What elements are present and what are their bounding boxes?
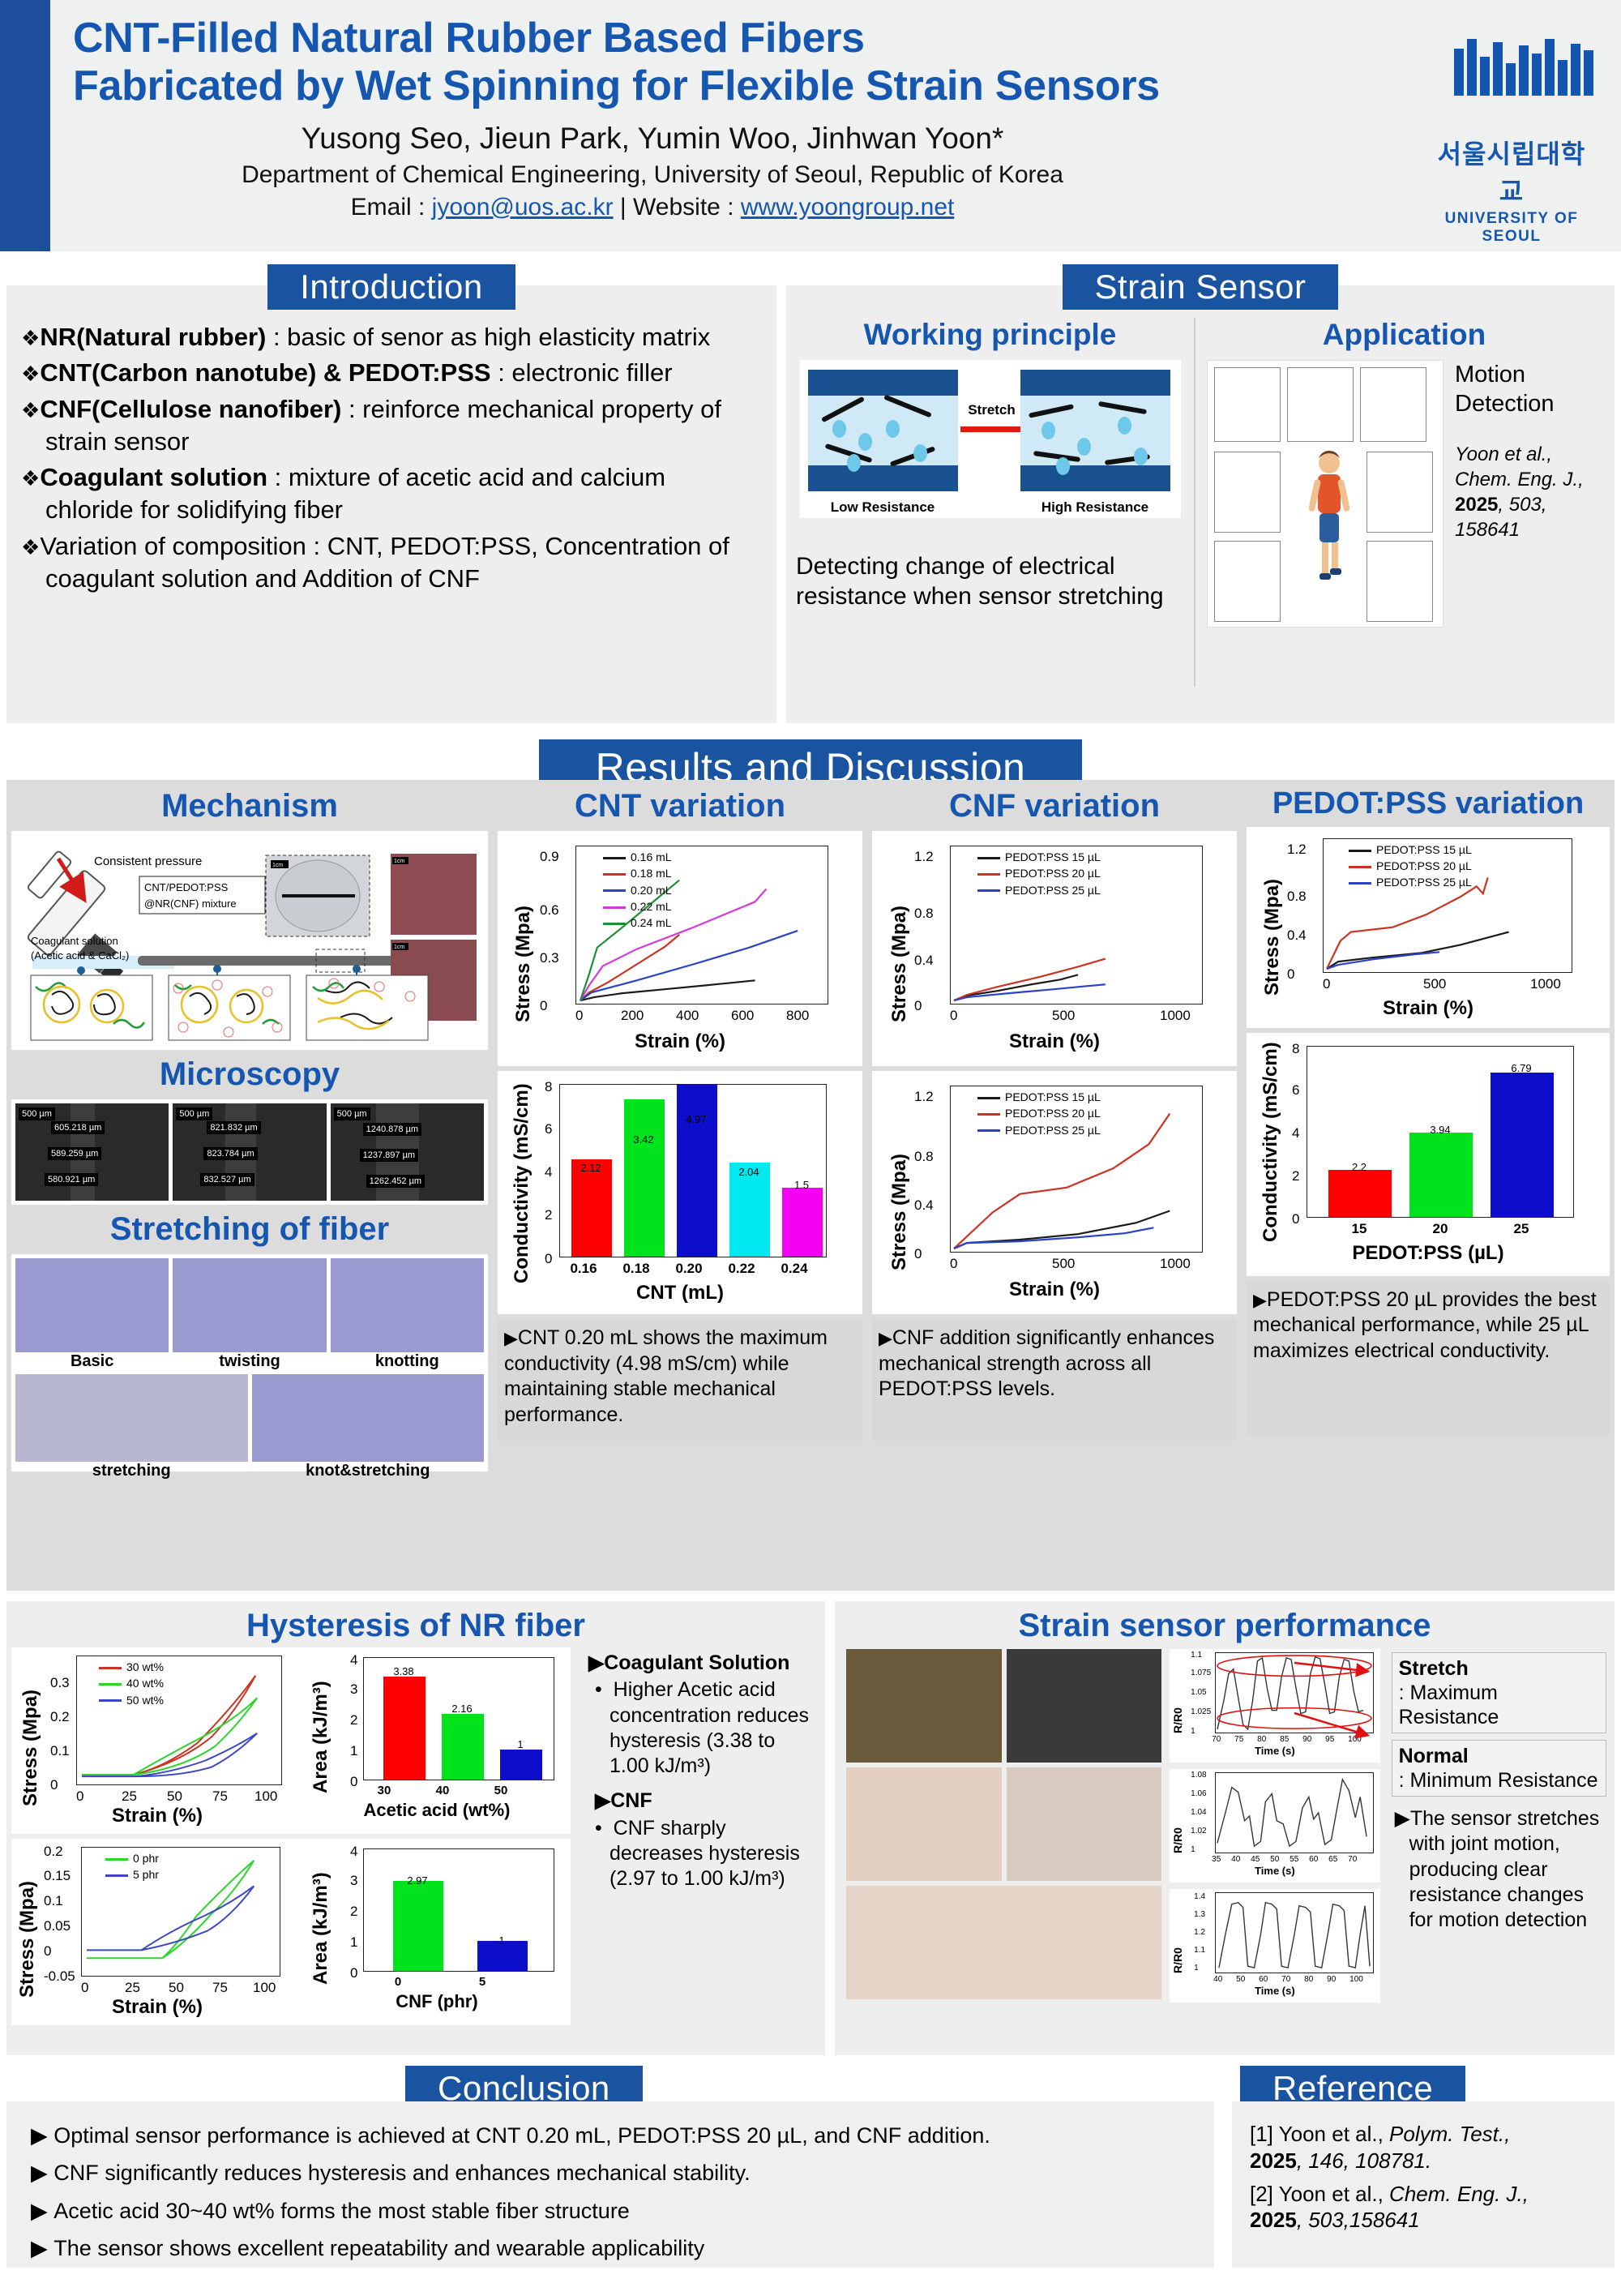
bar xyxy=(1491,1073,1554,1217)
y-tick: 1.2 xyxy=(914,849,934,865)
conclusion-panel: ▶ Optimal sensor performance is achieved… xyxy=(6,2101,1214,2268)
y-tick: 1 xyxy=(350,1743,357,1759)
area-cnf-ylabel: Area (kJ/m³) xyxy=(310,1872,332,1985)
citation-author: Yoon et al., xyxy=(1455,442,1602,467)
photo-finger-sensor xyxy=(846,1649,1002,1763)
y-tick: 0.1 xyxy=(44,1893,63,1909)
x-tick: 50 xyxy=(167,1788,182,1805)
y-tick: 6 xyxy=(545,1121,552,1137)
photo-elbow xyxy=(846,1886,1161,1999)
x-tick: 25 xyxy=(125,1980,140,1996)
legend-entry: 0.22 mL xyxy=(631,900,672,913)
y-tick: 0.4 xyxy=(1287,927,1307,944)
conclusion-item: CNF significantly reduces hysteresis and… xyxy=(53,2161,750,2185)
x-category: 0.22 xyxy=(717,1261,766,1277)
x-tick: 65 xyxy=(1328,1855,1337,1864)
strain-sensor-title-wrap: Strain Sensor xyxy=(786,264,1615,310)
hys-cnf-xlabel: Strain (%) xyxy=(11,1996,303,2019)
y-tick: 3 xyxy=(350,1681,357,1698)
high-resistance-diagram: High Resistance xyxy=(1020,370,1170,491)
x-tick: 40 xyxy=(1231,1855,1240,1864)
mini-plot-f xyxy=(1214,541,1281,622)
list-item: ▶ Optimal sensor performance is achieved… xyxy=(31,2124,1190,2147)
working-principle-figure: Low Resistance Stretch xyxy=(800,360,1181,518)
mini-plot-a xyxy=(1214,367,1281,442)
website-link[interactable]: www.yoongroup.net xyxy=(741,194,955,221)
low-resistance-diagram: Low Resistance xyxy=(808,370,958,491)
y-tick: 1.2 xyxy=(1287,842,1307,858)
reference-panel: [1] Yoon et al., Polym. Test.,2025, 146,… xyxy=(1232,2101,1615,2268)
performance-note: ▶The sensor stretches with joint motion,… xyxy=(1392,1806,1606,1933)
y-tick: 0 xyxy=(50,1777,58,1793)
y-tick: 0.3 xyxy=(540,950,559,966)
intro-item-rest: : basic of senor as high elasticity matr… xyxy=(266,323,710,351)
svg-text:1cm: 1cm xyxy=(394,945,404,950)
pedot-note-text: PEDOT:PSS 20 µL provides the best mechan… xyxy=(1253,1288,1597,1362)
x-tick: 1000 xyxy=(1530,976,1561,992)
y-tick: 0 xyxy=(350,1965,357,1981)
y-tick: 1.04 xyxy=(1191,1808,1206,1817)
application-citation: Yoon et al., Chem. Eng. J., 2025, 503, 1… xyxy=(1455,442,1602,543)
list-item: ❖CNF(Cellulose nanofiber) : reinforce me… xyxy=(21,393,759,459)
x-tick: 70 xyxy=(1281,1975,1290,1984)
pedot-variation-column: PEDOT:PSS variation Stress (Mpa) PEDOT:P… xyxy=(1242,780,1615,1591)
perf-finger-ylabel: R/R0 xyxy=(1171,1707,1184,1733)
pedot-chart-xlabel: Strain (%) xyxy=(1247,997,1610,1020)
hysteresis-cnf-chart: Stress (Mpa) 0 phr 5 phr -0.05 0 xyxy=(11,1839,303,2025)
y-tick: 8 xyxy=(545,1079,552,1095)
x-tick: 100 xyxy=(253,1980,276,1996)
y-tick: 1.1 xyxy=(1194,1946,1205,1955)
y-tick: 4 xyxy=(1292,1125,1299,1142)
motion-detection-label: Motion Detection xyxy=(1455,360,1602,419)
microscopy-figure: 500 µm 605.218 µm 589.259 µm 580.921 µm … xyxy=(11,1099,488,1205)
y-tick: 1 xyxy=(1191,1845,1195,1854)
x-tick: 70 xyxy=(1348,1855,1357,1864)
working-principle-heading: Working principle xyxy=(796,318,1184,352)
y-tick: 0.9 xyxy=(540,849,559,865)
x-tick: 50 xyxy=(1270,1855,1279,1864)
y-tick: 0.2 xyxy=(44,1844,63,1860)
stretch-caption: Basic xyxy=(15,1352,169,1371)
perf-wrist-xlabel: Time (s) xyxy=(1170,1865,1379,1877)
x-tick: 90 xyxy=(1327,1975,1336,1984)
pedot-conductivity-chart: Conductivity (mS/cm) 2.2 3.94 6.79 0 2 4… xyxy=(1247,1033,1610,1276)
y-tick: 1.025 xyxy=(1191,1707,1211,1716)
y-tick: 1 xyxy=(350,1934,357,1951)
svg-text:(Acetic acid & CaCl₂): (Acetic acid & CaCl₂) xyxy=(31,949,129,962)
perf-finger-xlabel: Time (s) xyxy=(1170,1745,1379,1757)
x-category: 0.20 xyxy=(665,1261,713,1277)
microscopy-panel-1: 500 µm 605.218 µm 589.259 µm 580.921 µm xyxy=(15,1103,169,1201)
conclusion-item: Optimal sensor performance is achieved a… xyxy=(53,2123,990,2148)
measurement-label: 821.832 µm xyxy=(207,1121,260,1134)
bar-value-label: 1.5 xyxy=(781,1179,822,1191)
university-name-en: UNIVERSITY OF SEOUL xyxy=(1426,210,1597,246)
bar-value-label: 3.94 xyxy=(1409,1124,1472,1136)
pedot-note: ▶PEDOT:PSS 20 µL provides the best mecha… xyxy=(1247,1281,1610,1435)
performance-panel: Strain sensor performance R/R0 xyxy=(835,1601,1615,2055)
hys-acetic-legend: 30 wt% 40 wt% 50 wt% xyxy=(99,1659,164,1708)
bar-value-label: 2.2 xyxy=(1328,1161,1391,1173)
area-acetic-ylabel: Area (kJ/m³) xyxy=(310,1681,332,1793)
list-item: ▶ The sensor shows excellent repeatabili… xyxy=(31,2237,1190,2260)
measurement-label: 589.259 µm xyxy=(48,1147,101,1160)
hysteresis-bullet-head-1: ▶Coagulant Solution xyxy=(588,1651,814,1676)
low-resistance-caption: Low Resistance xyxy=(808,499,958,516)
microscopy-panel-2: 500 µm 821.832 µm 823.784 µm 832.527 µm xyxy=(173,1103,326,1201)
introduction-list: ❖NR(Natural rubber) : basic of senor as … xyxy=(21,321,759,595)
high-resistance-caption: High Resistance xyxy=(1020,499,1170,516)
normal-annotation-text: : Minimum Resistance xyxy=(1399,1768,1599,1793)
area-cnf-plot xyxy=(363,1848,554,1972)
hysteresis-bullet-text-1: • Higher Acetic acid concentration reduc… xyxy=(588,1677,814,1779)
perf-elbow-xlabel: Time (s) xyxy=(1170,1985,1379,1997)
y-tick: 0.8 xyxy=(914,906,934,922)
area-cnf-chart: Area (kJ/m³) 2.97 1 0 1 2 3 4 0 5 xyxy=(303,1839,571,2025)
perf-elbow-chart: R/R0 1 1.1 1.2 1.3 1.4 40 50 60 70 80 xyxy=(1170,1889,1379,2003)
intro-item-rest: : electronic filler xyxy=(491,358,673,387)
y-tick: 0 xyxy=(540,998,547,1014)
application-heading: Application xyxy=(1207,318,1602,352)
bar-value-label: 2.12 xyxy=(571,1162,611,1174)
x-tick: 85 xyxy=(1280,1735,1289,1744)
mini-plot-b xyxy=(1287,367,1354,442)
cnf-bottom-ylabel: Stress (Mpa) xyxy=(888,1154,911,1270)
svg-text:@NR(CNF) mixture: @NR(CNF) mixture xyxy=(144,897,237,910)
results-panel: Mechanism Consistent pressure CNT/ xyxy=(6,780,1615,1591)
stretching-figure: Basic twisting knotting stretching knot&… xyxy=(11,1254,488,1471)
perf-wrist-chart: R/R0 1 1.02 1.04 1.06 1.08 35 40 45 50 xyxy=(1170,1769,1379,1883)
photo-wrist-flat xyxy=(846,1767,1002,1881)
citation-page: 158641 xyxy=(1455,517,1602,542)
stretch-annotation-box: Stretch : Maximum Resistance xyxy=(1392,1652,1606,1733)
stretch-caption: knot&stretching xyxy=(252,1462,485,1480)
y-tick: 1.02 xyxy=(1191,1827,1206,1836)
area-cnf-xlabel: CNF (phr) xyxy=(303,1991,571,2012)
x-category: 0.18 xyxy=(612,1261,661,1277)
bar xyxy=(677,1085,717,1257)
y-tick: -0.05 xyxy=(44,1968,75,1985)
y-tick: 1 xyxy=(1191,1727,1195,1736)
bar xyxy=(393,1881,443,1971)
normal-annotation-box: Normal : Minimum Resistance xyxy=(1392,1740,1606,1797)
cnf-variation-column: CNF variation Stress (Mpa) PEDOT:PSS 15 … xyxy=(867,780,1242,1591)
bar-value-label: 2.97 xyxy=(392,1874,443,1887)
measurement-label: 1262.452 µm xyxy=(366,1175,425,1188)
y-tick: 0 xyxy=(545,1251,552,1267)
bar-value-label: 4.97 xyxy=(676,1113,716,1125)
email-link[interactable]: jyoon@uos.ac.kr xyxy=(432,194,614,221)
microscopy-panel-3: 500 µm 1240.878 µm 1237.897 µm 1262.452 … xyxy=(331,1103,484,1201)
legend-entry: PEDOT:PSS 20 µL xyxy=(1376,859,1472,872)
perf-finger-plot xyxy=(1215,1652,1374,1733)
x-tick: 60 xyxy=(1259,1975,1268,1984)
x-category: 40 xyxy=(421,1784,464,1797)
performance-photos xyxy=(846,1649,1161,2003)
y-tick: 1.3 xyxy=(1194,1910,1205,1919)
x-tick: 1000 xyxy=(1160,1008,1191,1024)
scale-label: 500 µm xyxy=(19,1107,55,1120)
runner-illustration-icon xyxy=(1305,448,1354,594)
bar xyxy=(624,1099,665,1257)
x-tick: 60 xyxy=(1309,1855,1318,1864)
list-item: ❖NR(Natural rubber) : basic of senor as … xyxy=(21,321,759,353)
y-tick: 6 xyxy=(1292,1082,1299,1099)
x-tick: 50 xyxy=(1236,1975,1245,1984)
university-logo-icon xyxy=(1454,39,1600,96)
area-acetic-chart: Area (kJ/m³) 3.38 2.16 1 0 1 2 3 xyxy=(303,1647,571,1834)
stretch-caption: stretching xyxy=(15,1462,248,1480)
x-category: 5 xyxy=(457,1975,507,1989)
x-tick: 0 xyxy=(575,1008,583,1024)
poster-header: CNT-Filled Natural Rubber Based Fibers F… xyxy=(0,0,1621,251)
measurement-label: 823.784 µm xyxy=(203,1147,257,1160)
bar-value-label: 2.16 xyxy=(441,1703,483,1715)
stretch-photo-twisting xyxy=(173,1258,326,1352)
y-tick: 0.15 xyxy=(44,1868,71,1884)
stretch-annotation-text: : Maximum Resistance xyxy=(1399,1681,1599,1729)
x-tick: 25 xyxy=(122,1788,137,1805)
x-tick: 100 xyxy=(1349,1975,1363,1984)
scale-label: 500 µm xyxy=(176,1107,212,1120)
mechanism-figure: Consistent pressure CNT/PEDOT:PSS @NR(CN… xyxy=(11,831,488,1050)
cnt-stress-strain-chart: Stress (Mpa) 0.16 mL 0.18 mL 0 xyxy=(498,831,862,1066)
x-tick: 80 xyxy=(1304,1975,1313,1984)
bar xyxy=(383,1677,426,1780)
bar xyxy=(782,1188,823,1257)
pedot-chart-ylabel: Stress (Mpa) xyxy=(1261,879,1284,996)
legend-entry: 40 wt% xyxy=(126,1677,164,1690)
intro-item-bold: CNF(Cellulose nanofiber) xyxy=(40,395,341,423)
mini-plot-d xyxy=(1214,452,1281,533)
x-category: 0.24 xyxy=(770,1261,819,1277)
hysteresis-acetic-chart: Stress (Mpa) 30 wt% 40 wt% 50 wt% xyxy=(11,1647,303,1834)
cnt-note: ▶CNT 0.20 mL shows the maximum conductiv… xyxy=(498,1319,862,1441)
stretch-photo-stretching xyxy=(15,1374,248,1462)
cnf-top-xlabel: Strain (%) xyxy=(872,1030,1237,1053)
microscopy-heading: Microscopy xyxy=(11,1056,488,1093)
legend-entry: 0.24 mL xyxy=(631,916,672,929)
hys-cnf-ylabel: Stress (Mpa) xyxy=(16,1881,39,1998)
conclusion-list: ▶ Optimal sensor performance is achieved… xyxy=(31,2124,1190,2260)
perf-elbow-plot xyxy=(1215,1892,1374,1973)
x-tick: 35 xyxy=(1212,1855,1221,1864)
y-tick: 1.05 xyxy=(1191,1688,1206,1697)
x-tick: 0 xyxy=(76,1788,83,1805)
y-tick: 0.8 xyxy=(914,1149,934,1165)
x-tick: 200 xyxy=(621,1008,644,1024)
x-tick: 400 xyxy=(676,1008,699,1024)
hysteresis-side-text: ▶Coagulant Solution • Higher Acetic acid… xyxy=(579,1647,814,2025)
legend-entry: PEDOT:PSS 25 µL xyxy=(1376,876,1472,889)
x-tick: 40 xyxy=(1213,1975,1222,1984)
x-tick: 500 xyxy=(1052,1008,1075,1024)
cnf-bottom-legend: PEDOT:PSS 15 µL PEDOT:PSS 20 µL PEDOT:PS… xyxy=(977,1089,1101,1138)
x-category: 50 xyxy=(480,1784,522,1797)
cnt-conductivity-chart: Conductivity (mS/cm) 2.12 3.42 4.97 2.04… xyxy=(498,1071,862,1314)
measurement-label: 1240.878 µm xyxy=(363,1123,421,1136)
legend-entry: 0.16 mL xyxy=(631,850,672,863)
conclusion-item: The sensor shows excellent repeatability… xyxy=(53,2236,704,2260)
header-accent-bar xyxy=(0,0,50,251)
x-tick: 100 xyxy=(254,1788,277,1805)
photo-wrist-bend xyxy=(1007,1767,1162,1881)
x-tick: 95 xyxy=(1325,1735,1334,1744)
citation-journal: Chem. Eng. J., xyxy=(1455,467,1602,492)
legend-entry: PEDOT:PSS 15 µL xyxy=(1376,843,1472,856)
bar-value-label: 6.79 xyxy=(1490,1062,1553,1074)
university-name: 서울시립대학교 UNIVERSITY OF SEOUL xyxy=(1426,134,1597,246)
x-tick: 45 xyxy=(1251,1855,1260,1864)
bar-value-label: 3.42 xyxy=(623,1133,664,1146)
application-block: Application xyxy=(1195,318,1613,687)
x-tick: 600 xyxy=(731,1008,754,1024)
x-tick: 500 xyxy=(1052,1256,1075,1272)
citation-volume: , 503, xyxy=(1498,494,1546,516)
hysteresis-bullet-head-2: ▶CNF xyxy=(588,1788,814,1814)
legend-entry: 30 wt% xyxy=(126,1660,164,1673)
stretch-arrow-icon xyxy=(960,426,1022,432)
list-item: ❖Coagulant solution : mixture of acetic … xyxy=(21,461,759,527)
email-label: Email : xyxy=(351,194,432,221)
x-tick: 80 xyxy=(1257,1735,1266,1744)
bar xyxy=(1328,1170,1392,1217)
x-category: 30 xyxy=(363,1784,405,1797)
introduction-title: Introduction xyxy=(267,264,515,310)
legend-entry: 50 wt% xyxy=(126,1694,164,1707)
mechanism-column: Mechanism Consistent pressure CNT/ xyxy=(6,780,493,1591)
perf-wrist-plot xyxy=(1215,1772,1374,1853)
cnf-stress-strain-bottom-chart: Stress (Mpa) PEDOT:PSS 15 µL PEDOT:PSS 2… xyxy=(872,1071,1237,1314)
performance-title: Strain sensor performance xyxy=(835,1601,1615,1644)
y-tick: 0 xyxy=(1287,966,1294,983)
measurement-label: 832.527 µm xyxy=(200,1173,254,1186)
y-tick: 4 xyxy=(350,1844,357,1860)
poster-title-line1: CNT-Filled Natural Rubber Based Fibers xyxy=(73,15,1451,62)
x-tick: 50 xyxy=(169,1980,184,1996)
hysteresis-title: Hysteresis of NR fiber xyxy=(6,1601,825,1644)
y-tick: 4 xyxy=(350,1652,357,1668)
pedot-stress-strain-chart: Stress (Mpa) PEDOT:PSS 15 µL PEDOT:PSS 2… xyxy=(1247,827,1610,1028)
intro-item-bold: CNT(Carbon nanotube) & PEDOT:PSS xyxy=(40,358,490,387)
citation-year: 2025 xyxy=(1455,494,1498,516)
y-tick: 0 xyxy=(44,1943,51,1960)
perf-elbow-ylabel: R/R0 xyxy=(1171,1947,1184,1973)
normal-annotation-head: Normal xyxy=(1399,1745,1469,1767)
hysteresis-bullet-text-2: • CNF sharply decreases hysteresis (2.97… xyxy=(588,1816,814,1892)
stretching-heading: Stretching of fiber xyxy=(11,1211,488,1248)
svg-text:Consistent pressure: Consistent pressure xyxy=(94,855,202,868)
y-tick: 3 xyxy=(350,1873,357,1889)
y-tick: 0 xyxy=(350,1774,357,1790)
cnt-bar-xlabel: CNT (mL) xyxy=(498,1282,862,1304)
pedot-heading: PEDOT:PSS variation xyxy=(1247,788,1610,820)
cnf-note: ▶CNF addition significantly enhances mec… xyxy=(872,1319,1237,1441)
department: Department of Chemical Engineering, Univ… xyxy=(73,161,1232,189)
bar-value-label: 3.38 xyxy=(383,1665,425,1677)
mini-plot-c xyxy=(1360,367,1426,442)
reference-item: [1] Yoon et al., Polym. Test.,2025, 146,… xyxy=(1250,2121,1597,2174)
bar-value-label: 2.04 xyxy=(729,1166,769,1178)
stretch-annotation-head: Stretch xyxy=(1399,1657,1469,1680)
measurement-label: 605.218 µm xyxy=(51,1121,105,1134)
x-tick: 800 xyxy=(786,1008,809,1024)
scale-label: 500 µm xyxy=(334,1107,370,1120)
svg-text:1cm: 1cm xyxy=(272,863,283,868)
svg-text:Coagulant solution: Coagulant solution xyxy=(31,935,118,947)
x-tick: 100 xyxy=(1348,1735,1362,1744)
svg-text:1cm: 1cm xyxy=(394,859,404,864)
x-category: 20 xyxy=(1409,1221,1472,1237)
measurement-label: 580.921 µm xyxy=(45,1173,98,1186)
stretch-photo-basic xyxy=(15,1258,169,1352)
y-tick: 0 xyxy=(914,1246,922,1262)
pedot-bar-xlabel: PEDOT:PSS (µL) xyxy=(1247,1242,1610,1265)
x-category: 0.16 xyxy=(559,1261,608,1277)
title-block: CNT-Filled Natural Rubber Based Fibers F… xyxy=(73,15,1451,221)
x-tick: 75 xyxy=(1234,1735,1243,1744)
x-category: 25 xyxy=(1490,1221,1553,1237)
introduction-panel: Introduction ❖NR(Natural rubber) : basic… xyxy=(6,285,776,723)
y-tick: 1.4 xyxy=(1194,1892,1205,1901)
svg-text:CNT/PEDOT:PSS: CNT/PEDOT:PSS xyxy=(144,881,229,893)
poster-root: CNT-Filled Natural Rubber Based Fibers F… xyxy=(0,0,1621,2296)
y-tick: 0.2 xyxy=(50,1709,70,1725)
x-tick: 0 xyxy=(81,1980,88,1996)
cnf-heading: CNF variation xyxy=(872,788,1237,825)
x-category: 0 xyxy=(373,1975,423,1989)
x-tick: 55 xyxy=(1290,1855,1298,1864)
cnf-note-text: CNF addition significantly enhances mech… xyxy=(879,1326,1214,1400)
intro-item-bold: Coagulant solution xyxy=(40,463,267,491)
website-label: | Website : xyxy=(614,194,741,221)
contact-line: Email : jyoon@uos.ac.kr | Website : www.… xyxy=(73,194,1232,221)
working-principle-block: Working principle Low Resistance xyxy=(786,318,1195,687)
legend-entry: 0 phr xyxy=(133,1852,159,1865)
y-tick: 1.1 xyxy=(1191,1651,1202,1660)
y-tick: 1.2 xyxy=(1194,1928,1205,1937)
university-name-kr: 서울시립대학교 xyxy=(1426,134,1597,208)
conclusion-item: Acetic acid 30~40 wt% forms the most sta… xyxy=(53,2199,630,2223)
perf-finger-chart: R/R0 1 1.025 1.05 1.075 1.1 70 75 xyxy=(1170,1649,1379,1763)
x-tick: 0 xyxy=(1323,976,1330,992)
y-tick: 0.4 xyxy=(914,953,934,969)
legend-entry: PEDOT:PSS 20 µL xyxy=(1005,1107,1101,1120)
y-tick: 1.2 xyxy=(914,1089,934,1105)
motion-detection-figure xyxy=(1207,360,1444,628)
cnt-bar-ylabel: Conductivity (mS/cm) xyxy=(511,1083,533,1283)
legend-entry: 0.20 mL xyxy=(631,884,672,897)
y-tick: 1.075 xyxy=(1191,1668,1211,1677)
y-tick: 1 xyxy=(1194,1964,1199,1973)
y-tick: 2 xyxy=(545,1207,552,1223)
bar xyxy=(500,1750,542,1780)
hysteresis-panel: Hysteresis of NR fiber Stress (Mpa) xyxy=(6,1601,825,2055)
bar-value-label: 1 xyxy=(477,1934,527,1947)
legend-entry: PEDOT:PSS 20 µL xyxy=(1005,867,1101,880)
y-tick: 8 xyxy=(1292,1041,1299,1057)
x-category: 15 xyxy=(1328,1221,1391,1237)
y-tick: 0.8 xyxy=(1287,889,1307,905)
cnf-bottom-xlabel: Strain (%) xyxy=(872,1279,1237,1301)
y-tick: 1.06 xyxy=(1191,1789,1206,1798)
hys-acetic-ylabel: Stress (Mpa) xyxy=(19,1690,42,1806)
hys-cnf-legend: 0 phr 5 phr xyxy=(105,1850,159,1883)
area-acetic-xlabel: Acetic acid (wt%) xyxy=(303,1800,571,1821)
cnt-chart-xlabel: Strain (%) xyxy=(498,1030,862,1053)
cnt-variation-column: CNT variation Stress (Mpa) 0.16 mL xyxy=(493,780,867,1591)
